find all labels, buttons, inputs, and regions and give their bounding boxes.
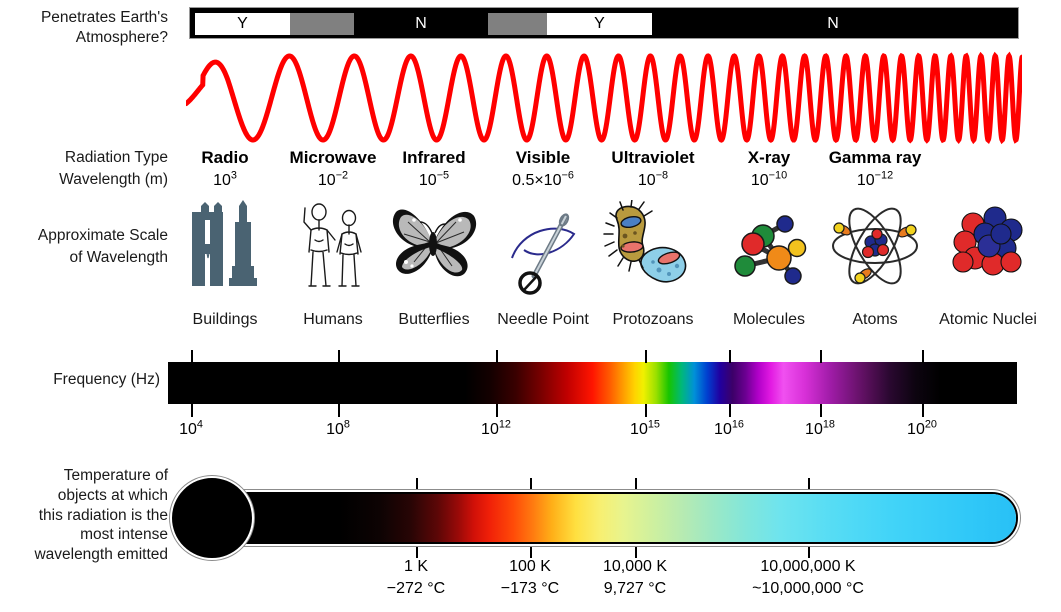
temperature-celsius: 9,727 °C [545,578,725,600]
atomic-nucleus-icon [945,200,1031,300]
protozoan-icon [599,200,707,300]
temperature-celsius: ~10,000,000 °C [718,578,898,600]
frequency-tick-label: 1012 [436,421,556,439]
atmosphere-segment-text: N [652,13,1014,35]
temperature-kelvin: 10,000,000 K [718,556,898,578]
temperature-label: Temperature ofobjects at whichthis radia… [0,466,168,565]
frequency-tick [729,404,731,417]
frequency-tick [922,404,924,417]
humans-icon [295,200,371,300]
atmosphere-label-line1: Penetrates Earth's [0,8,168,28]
thermometer-bulb [172,478,252,558]
frequency-tick [729,350,731,363]
temperature-label-line-2: objects at which [0,486,168,506]
frequency-tick [338,350,340,363]
frequency-tick [191,350,193,363]
frequency-spectrum-bar [168,362,1017,404]
frequency-tick-label: 104 [131,421,251,439]
frequency-tick [820,404,822,417]
atom-icon [827,200,923,300]
molecule-icon [723,200,815,300]
atmosphere-segment-text: N [354,13,488,35]
frequency-tick-label: 1020 [862,421,982,439]
frequency-tick [922,350,924,363]
buildings-icon [188,200,262,300]
needle-icon [504,200,582,300]
wavelength-value: 10−12 [790,172,960,190]
frequency-tick [645,350,647,363]
atmosphere-label-line2: Atmosphere? [0,28,168,48]
radiation-type-gamma-ray: Gamma ray [790,148,960,168]
frequency-label: Frequency (Hz) [0,370,160,390]
scale-name-atomic-nuclei: Atomic Nuclei [908,311,1061,329]
frequency-tick [191,404,193,417]
thermometer-tube [228,492,1018,544]
atmosphere-segment-text: Y [195,13,290,35]
frequency-tick-label: 108 [278,421,398,439]
temperature-label-line-3: this radiation is the [0,506,168,526]
frequency-tick [645,404,647,417]
temperature-label-line-1: Temperature of [0,466,168,486]
frequency-tick [820,350,822,363]
atmosphere-row-label: Penetrates Earth's Atmosphere? [0,8,168,48]
temperature-label-line-4: most intense [0,525,168,545]
butterfly-icon [386,200,482,300]
temperature-kelvin: 10,000 K [545,556,725,578]
atmosphere-segment-gray [488,13,547,35]
scale-label-line1: Approximate Scale [0,226,168,246]
frequency-tick [496,350,498,363]
atmosphere-segment-text: Y [547,13,652,35]
scale-label-line2: of Wavelength [0,248,168,268]
atmosphere-penetration-bar: YNYN [190,8,1018,38]
frequency-tick [338,404,340,417]
wave-svg [186,40,1022,145]
temperature-tick-label: 10,000 K9,727 °C [545,556,725,599]
temperature-label-line-5: wavelength emitted [0,545,168,565]
frequency-tick [496,404,498,417]
thermometer-gradient [230,494,1016,542]
temperature-tick-label: 10,000,000 K~10,000,000 °C [718,556,898,599]
atmosphere-segment-gray [290,13,354,35]
electromagnetic-wave-graphic [186,40,1022,145]
